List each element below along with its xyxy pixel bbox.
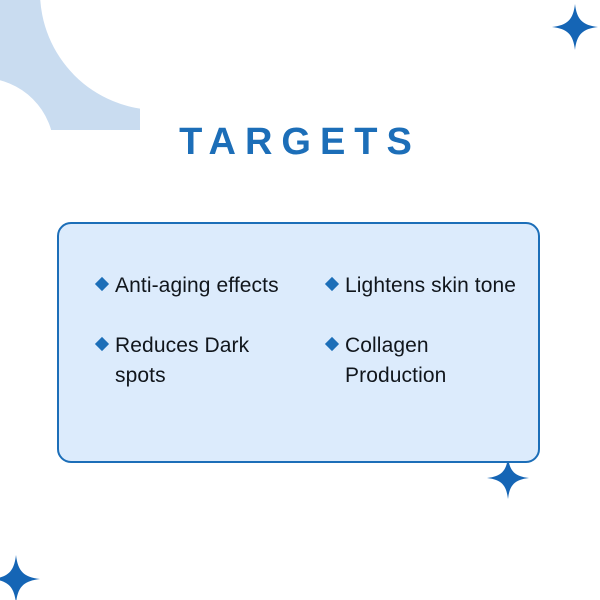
diamond-bullet-icon [95, 337, 109, 351]
targets-card: Anti-aging effects Lightens skin tone Re… [57, 222, 540, 463]
list-item: Collagen Production [327, 331, 520, 391]
list-item: Lightens skin tone [327, 271, 520, 301]
list-item-label: Lightens skin tone [345, 271, 516, 301]
slide-canvas: TARGETS Anti-aging effects Lightens skin… [0, 0, 600, 600]
list-item: Reduces Dark spots [97, 331, 327, 391]
sparkle-bottom-left-icon [0, 553, 40, 600]
list-item-label: Reduces Dark spots [115, 331, 305, 391]
list-item: Anti-aging effects [97, 271, 327, 301]
targets-list: Anti-aging effects Lightens skin tone Re… [59, 224, 538, 461]
sparkle-top-right-icon [552, 2, 598, 52]
list-item-label: Anti-aging effects [115, 271, 279, 301]
page-title: TARGETS [0, 122, 600, 164]
list-item-label: Collagen Production [345, 331, 520, 391]
diamond-bullet-icon [325, 277, 339, 291]
diamond-bullet-icon [325, 337, 339, 351]
diamond-bullet-icon [95, 277, 109, 291]
